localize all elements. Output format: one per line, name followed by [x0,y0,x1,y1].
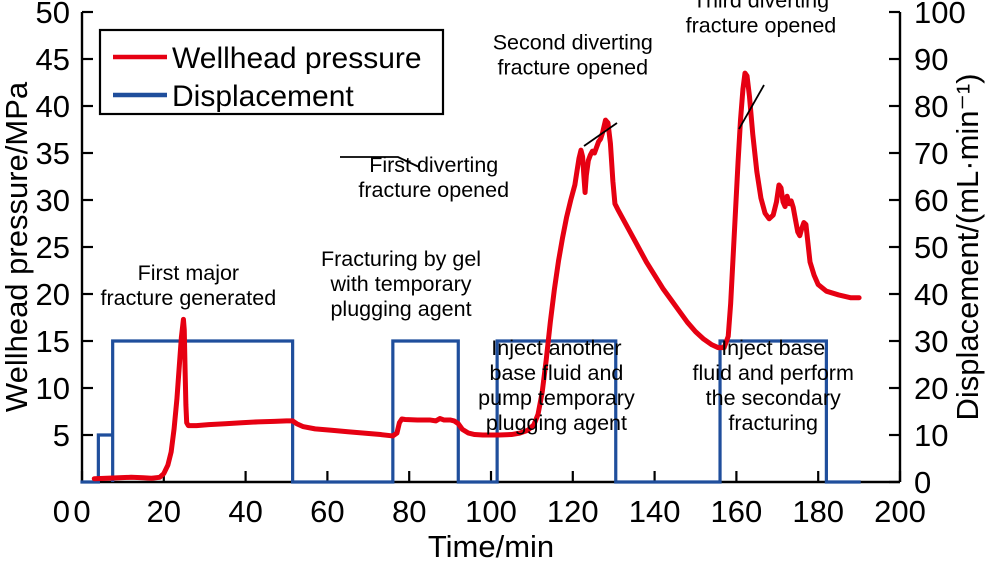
x-tick-label: 200 [874,494,926,529]
annotation-line: base fluid and [489,361,623,385]
y-left-tick-label: 20 [36,277,70,312]
x-tick-label: 80 [392,494,426,529]
legend[interactable]: Wellhead pressure Displacement [100,30,443,114]
y-left-tick-label: 50 [36,0,70,30]
annotation-line: fracturing [728,411,818,435]
y-axis-left-tick-labels: 05101520253035404550 [36,0,70,529]
x-tick-label: 0 [73,494,90,529]
y-axis-right-title: Displacement/(mL·min⁻¹) [950,73,985,420]
legend-label-wellhead-pressure: Wellhead pressure [172,42,422,75]
y-right-tick-label: 50 [914,230,948,265]
x-tick-label: 60 [310,494,344,529]
x-tick-label: 180 [792,494,844,529]
annotation-first-diverting: First divertingfracture opened [358,153,509,202]
y-right-tick-label: 10 [914,418,948,453]
y-left-tick-label: 0 [53,494,70,529]
annotation-second-diverting: Second divertingfracture opened [493,31,653,80]
annotation-line: Inject base [721,336,825,360]
x-tick-label: 40 [228,494,262,529]
annotation-line: fluid and perform [693,361,854,385]
annotation-line: plugging agent [330,297,471,321]
annotation-line: plugging agent [486,411,627,435]
annotation-line: the secondary [706,386,841,410]
x-tick-label: 20 [147,494,181,529]
annotation-inject-another-base-fluid: Inject anotherbase fluid andpump tempora… [478,336,635,435]
y-left-tick-label: 10 [36,371,70,406]
x-tick-label: 100 [465,494,517,529]
y-left-tick-label: 25 [36,230,70,265]
y-right-tick-label: 100 [914,0,966,30]
annotation-line: First major [138,261,240,285]
x-axis-title: Time/min [428,529,554,564]
y-left-tick-label: 15 [36,324,70,359]
x-tick-label: 160 [711,494,763,529]
x-axis-tick-labels: 020406080100120140160180200 [73,494,925,529]
y-left-tick-label: 30 [36,183,70,218]
y-axis-left-title: Wellhead pressure/MPa [0,81,34,412]
annotation-line: pump temporary [478,386,635,410]
y-right-tick-label: 80 [914,89,948,124]
legend-label-displacement: Displacement [172,80,354,113]
annotation-line: Second diverting [493,31,653,55]
y-left-tick-label: 5 [53,418,70,453]
annotation-fracturing-by-gel: Fracturing by gelwith temporaryplugging … [321,247,481,321]
figure-canvas: 05101520253035404550 0102030405060708090… [0,0,1000,569]
x-tick-label: 120 [547,494,599,529]
annotation-line: fracture generated [100,286,276,310]
x-tick-label: 140 [629,494,681,529]
annotation-line: fracture opened [686,13,837,37]
y-left-tick-label: 35 [36,136,70,171]
annotation-line: with temporary [330,272,472,296]
annotation-line: fracture opened [497,56,648,80]
annotation-line: Third diverting [693,0,829,12]
y-right-tick-label: 70 [914,136,948,171]
y-left-tick-label: 45 [36,42,70,77]
y-right-tick-label: 30 [914,324,948,359]
y-right-tick-label: 60 [914,183,948,218]
wellhead-pressure-displacement-chart: 05101520253035404550 0102030405060708090… [0,0,1000,569]
y-right-tick-label: 90 [914,42,948,77]
y-right-tick-label: 40 [914,277,948,312]
annotation-third-diverting: Third divertingfracture opened [686,0,837,37]
annotation-line: fracture opened [358,178,509,202]
annotation-line: Inject another [491,336,621,360]
annotation-line: Fracturing by gel [321,247,481,271]
y-left-tick-label: 40 [36,89,70,124]
y-right-tick-label: 20 [914,371,948,406]
